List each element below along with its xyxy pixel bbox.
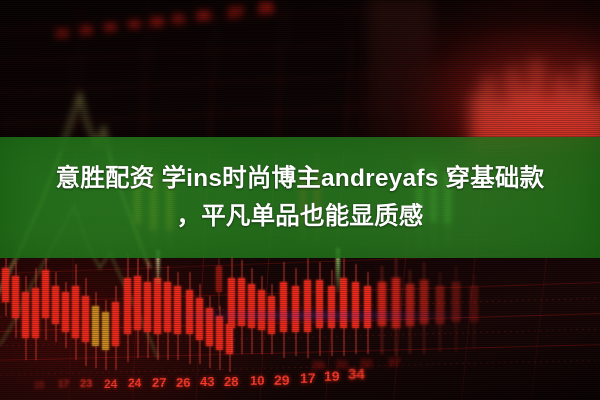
title-line-1: 意胜配资 学ins时尚博主andreyafs 穿基础款 <box>56 161 545 197</box>
blue-scanline-artifact <box>150 312 480 319</box>
axis-labels-bottom: 15 17 23 24 24 27 26 43 28 10 29 17 19 3… <box>0 372 600 394</box>
screenshot-root: 23 25 26 30 28 21 30 27 26 29 31 32 37 1… <box>0 0 600 400</box>
title-line-2: ，平凡单品也能显质感 <box>177 199 424 235</box>
title-banner: 意胜配资 学ins时尚博主andreyafs 穿基础款 ，平凡单品也能显质感 <box>0 137 600 258</box>
